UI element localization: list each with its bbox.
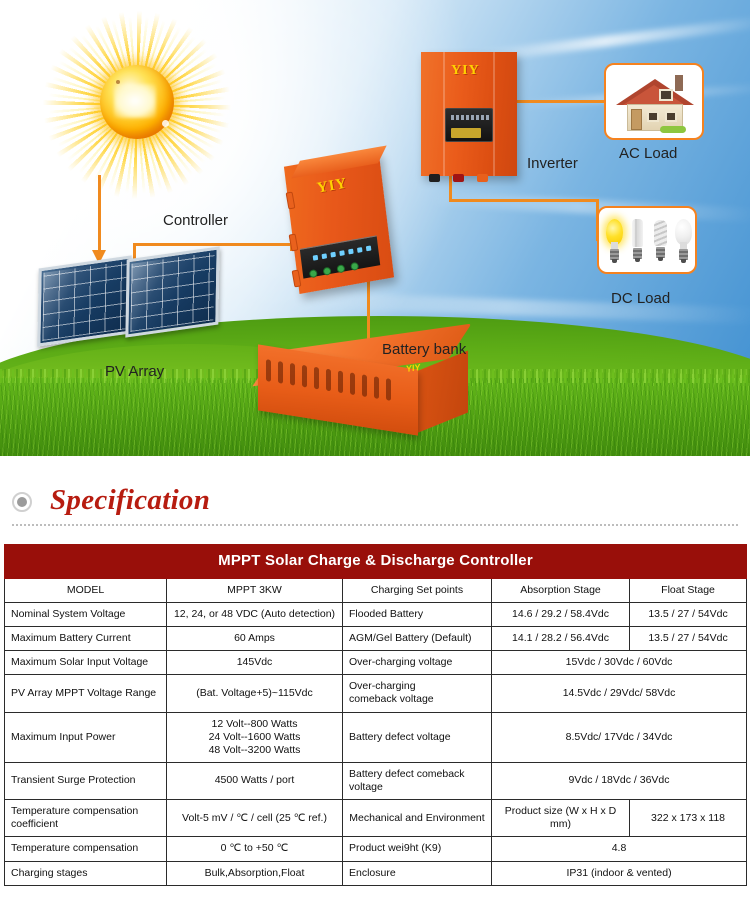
table-row: PV Array MPPT Voltage Range(Bat. Voltage… [5, 675, 747, 712]
table-cell: 14.6 / 29.2 / 58.4Vdc [492, 602, 630, 626]
table-cell: 15Vdc / 30Vdc / 60Vdc [492, 651, 747, 675]
table-cell: Product wei9ht (K9) [343, 837, 492, 861]
bulb-unlit-icon [674, 219, 693, 269]
column-header: Float Stage [630, 578, 747, 602]
house-window [647, 111, 659, 122]
attic-window [659, 89, 673, 101]
table-cell: Temperature compensationcoefficient [5, 800, 167, 837]
table-cell: 4500 Watts / port [167, 762, 343, 799]
wire-inverter-to-dcload [449, 199, 599, 202]
table-row: Maximum Battery Current60 AmpsAGM/Gel Ba… [5, 627, 747, 651]
inverter-ridge [493, 52, 495, 176]
table-cell: Mechanical and Environment [343, 800, 492, 837]
table-cell: Maximum Battery Current [5, 627, 167, 651]
solar-system-diagram: YIY YIY [0, 0, 750, 456]
label-pv-array: PV Array [105, 363, 164, 380]
table-cell: (Bat. Voltage+5)~115Vdc [167, 675, 343, 712]
table-cell: Temperature compensation [5, 837, 167, 861]
inverter-port-orange [477, 174, 488, 182]
table-cell: 12 Volt--800 Watts24 Volt--1600 Watts48 … [167, 712, 343, 762]
sun-dark-spot [116, 80, 120, 84]
house-icon [614, 71, 698, 135]
specification-table-body: MPPT Solar Charge & Discharge Controller… [5, 545, 747, 886]
solar-panel [37, 255, 131, 346]
radio-dot-icon [12, 492, 32, 512]
table-cell: Maximum Input Power [5, 712, 167, 762]
table-cell: 12, 24, or 48 VDC (Auto detection) [167, 602, 343, 626]
inverter-port-black [429, 174, 440, 182]
table-cell: Enclosure [343, 861, 492, 885]
label-ac-load: AC Load [619, 145, 677, 162]
ac-load-box [604, 63, 704, 140]
table-header-row: MODELMPPT 3KWCharging Set pointsAbsorpti… [5, 578, 747, 602]
table-cell: 14.5Vdc / 29Vdc/ 58Vdc [492, 675, 747, 712]
wire-inverter-down [449, 172, 452, 202]
table-row: Maximum Solar Input Voltage145VdcOver-ch… [5, 651, 747, 675]
inverter-indicator-row [451, 115, 489, 120]
table-row: Nominal System Voltage12, 24, or 48 VDC … [5, 602, 747, 626]
table-cell: Bulk,Absorption,Float [167, 861, 343, 885]
cfl-spiral-bulb-icon [651, 219, 670, 269]
battery-side-face [416, 350, 468, 433]
sun-core-highlight [114, 84, 156, 118]
specification-table: MPPT Solar Charge & Discharge Controller… [4, 544, 747, 886]
column-header: MPPT 3KW [167, 578, 343, 602]
table-cell: IP31 (indoor & vented) [492, 861, 747, 885]
specification-heading: Specification [12, 484, 750, 530]
table-cell: Over-chargingcomeback voltage [343, 675, 492, 712]
dc-load-box [597, 206, 697, 274]
house-window [665, 111, 677, 122]
table-cell: Battery defect voltage [343, 712, 492, 762]
label-inverter: Inverter [527, 155, 578, 172]
inverter-port-red [453, 174, 464, 182]
bulb-lit-icon [605, 219, 624, 269]
cfl-tube-bulb-icon [628, 219, 647, 269]
column-header: MODEL [5, 578, 167, 602]
table-cell: Battery defect comebackvoltage [343, 762, 492, 799]
roof-inner-shape [623, 85, 685, 105]
section-divider [12, 524, 738, 526]
sun-icon [42, 10, 232, 200]
charge-controller-graphic: YIY [291, 158, 387, 286]
sunlight-arrow-shaft [98, 175, 101, 253]
table-row: Charging stagesBulk,Absorption,FloatEncl… [5, 861, 747, 885]
table-banner-title: MPPT Solar Charge & Discharge Controller [5, 545, 747, 579]
wire-pv-to-controller [133, 243, 293, 246]
table-cell: 0 ℃ to +50 ℃ [167, 837, 343, 861]
table-row: Temperature compensationcoefficientVolt-… [5, 800, 747, 837]
table-cell: 13.5 / 27 / 54Vdc [630, 602, 747, 626]
brand-logo-text: YIY [406, 362, 421, 374]
table-cell: Over-charging voltage [343, 651, 492, 675]
label-dc-load: DC Load [611, 290, 670, 307]
panel-glare [42, 261, 126, 341]
table-cell: Product size (W x H x D mm) [492, 800, 630, 837]
controller-led-row [313, 245, 372, 260]
table-cell: 4.8 [492, 837, 747, 861]
panel-glare [130, 252, 214, 332]
label-controller: Controller [163, 212, 228, 229]
column-header: Absorption Stage [492, 578, 630, 602]
table-cell: 8.5Vdc/ 17Vdc / 34Vdc [492, 712, 747, 762]
table-cell: PV Array MPPT Voltage Range [5, 675, 167, 712]
table-cell: Volt-5 mV / ℃ / cell (25 ℃ ref.) [167, 800, 343, 837]
column-header: Charging Set points [343, 578, 492, 602]
light-bulbs-icon [605, 213, 693, 269]
table-cell: 322 x 173 x 118 [630, 800, 747, 837]
house-lawn [660, 126, 686, 133]
table-cell: 60 Amps [167, 627, 343, 651]
table-row: Temperature compensation0 ℃ to +50 ℃Prod… [5, 837, 747, 861]
table-cell: AGM/Gel Battery (Default) [343, 627, 492, 651]
table-cell: Transient Surge Protection [5, 762, 167, 799]
solar-panel [125, 246, 219, 337]
table-cell: Charging stages [5, 861, 167, 885]
wire-inverter-to-acload [516, 100, 606, 103]
inverter-graphic: YIY [421, 52, 517, 176]
table-cell: 14.1 / 28.2 / 56.4Vdc [492, 627, 630, 651]
inverter-display-panel [445, 108, 493, 142]
house-door [631, 109, 642, 130]
inverter-lcd [451, 128, 481, 138]
table-cell: 9Vdc / 18Vdc / 36Vdc [492, 762, 747, 799]
brand-logo-text: YIY [451, 63, 480, 79]
table-banner-row: MPPT Solar Charge & Discharge Controller [5, 545, 747, 579]
table-cell: 145Vdc [167, 651, 343, 675]
section-title: Specification [50, 484, 210, 517]
table-cell: 13.5 / 27 / 54Vdc [630, 627, 747, 651]
label-battery-bank: Battery bank [382, 341, 466, 358]
product-spec-page: YIY YIY [0, 0, 750, 911]
specification-table-wrapper: MPPT Solar Charge & Discharge Controller… [4, 544, 746, 886]
table-cell: Flooded Battery [343, 602, 492, 626]
table-row: Transient Surge Protection4500 Watts / p… [5, 762, 747, 799]
sun-highlight-spot [162, 120, 169, 127]
table-cell: Nominal System Voltage [5, 602, 167, 626]
table-row: Maximum Input Power12 Volt--800 Watts24 … [5, 712, 747, 762]
table-cell: Maximum Solar Input Voltage [5, 651, 167, 675]
